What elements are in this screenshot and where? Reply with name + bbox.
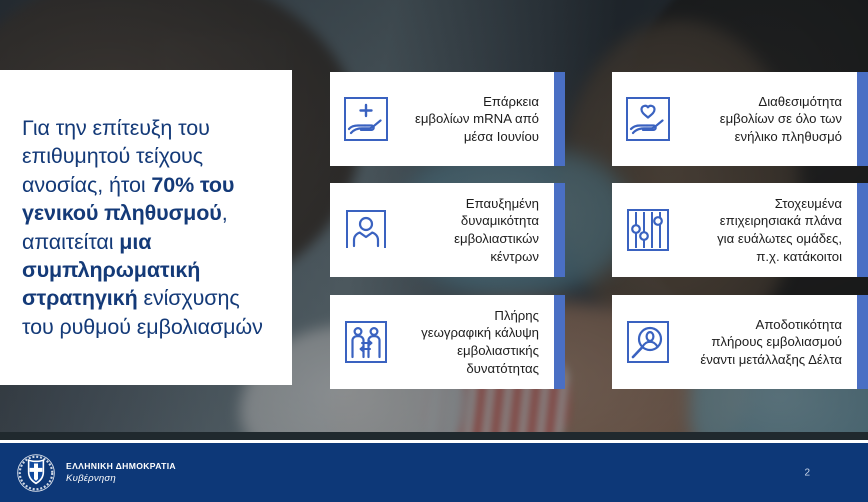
presentation-slide: Για την επίτευξη του επιθυμητού τείχους … xyxy=(0,0,868,502)
footer-text-block: ΕΛΛΗΝΙΚΗ ΔΗΜΟΚΡΑΤΙΑ Κυβέρνηση xyxy=(66,461,176,484)
statement-panel: Για την επίτευξη του επιθυμητού τείχους … xyxy=(0,70,292,385)
info-card-text: Επαυξημένη δυναμικότητα εμβολιαστικών κέ… xyxy=(398,195,555,265)
info-card-geographic-coverage[interactable]: Πλήρης γεωγραφική κάλυψη εμβολιαστικής δ… xyxy=(330,295,565,389)
sliders-icon xyxy=(624,206,672,254)
info-card-text: Πλήρης γεωγραφική κάλυψη εμβολιαστικής δ… xyxy=(398,307,555,377)
card-accent-bar xyxy=(554,72,565,166)
magnifier-person-icon xyxy=(624,318,672,366)
card-accent-bar xyxy=(857,183,868,277)
info-card-text: Στοχευμένα επιχειρησιακά πλάνα για ευάλω… xyxy=(680,195,858,265)
people-exchange-icon xyxy=(342,318,390,366)
card-accent-bar xyxy=(857,295,868,389)
info-card-targeted-plans[interactable]: Στοχευμένα επιχειρησιακά πλάνα για ευάλω… xyxy=(612,183,868,277)
info-card-center-capacity[interactable]: Επαυξημένη δυναμικότητα εμβολιαστικών κέ… xyxy=(330,183,565,277)
footer-line-2: Κυβέρνηση xyxy=(66,473,176,484)
statement-text: Για την επίτευξη του επιθυμητού τείχους … xyxy=(22,114,276,341)
info-card-text: Αποδοτικότητα πλήρους εμβολιασμού έναντι… xyxy=(680,316,858,369)
info-card-vaccine-availability[interactable]: Διαθεσιμότητα εμβολίων σε όλο των ενήλικ… xyxy=(612,72,868,166)
info-card-text: Διαθεσιμότητα εμβολίων σε όλο των ενήλικ… xyxy=(680,93,858,146)
hand-plus-icon xyxy=(342,95,390,143)
greek-republic-emblem-icon xyxy=(16,453,56,493)
person-frame-icon xyxy=(342,206,390,254)
card-accent-bar xyxy=(554,295,565,389)
card-accent-bar xyxy=(554,183,565,277)
slide-footer: ΕΛΛΗΝΙΚΗ ΔΗΜΟΚΡΑΤΙΑ Κυβέρνηση 2 xyxy=(0,440,868,502)
page-number: 2 xyxy=(804,467,810,478)
info-card-vaccine-supply[interactable]: Επάρκεια εμβολίων mRNA από μέσα Ιουνίου xyxy=(330,72,565,166)
hand-heart-icon xyxy=(624,95,672,143)
card-accent-bar xyxy=(857,72,868,166)
info-card-vaccine-effectiveness[interactable]: Αποδοτικότητα πλήρους εμβολιασμού έναντι… xyxy=(612,295,868,389)
info-card-text: Επάρκεια εμβολίων mRNA από μέσα Ιουνίου xyxy=(398,93,555,146)
footer-line-1: ΕΛΛΗΝΙΚΗ ΔΗΜΟΚΡΑΤΙΑ xyxy=(66,461,176,471)
